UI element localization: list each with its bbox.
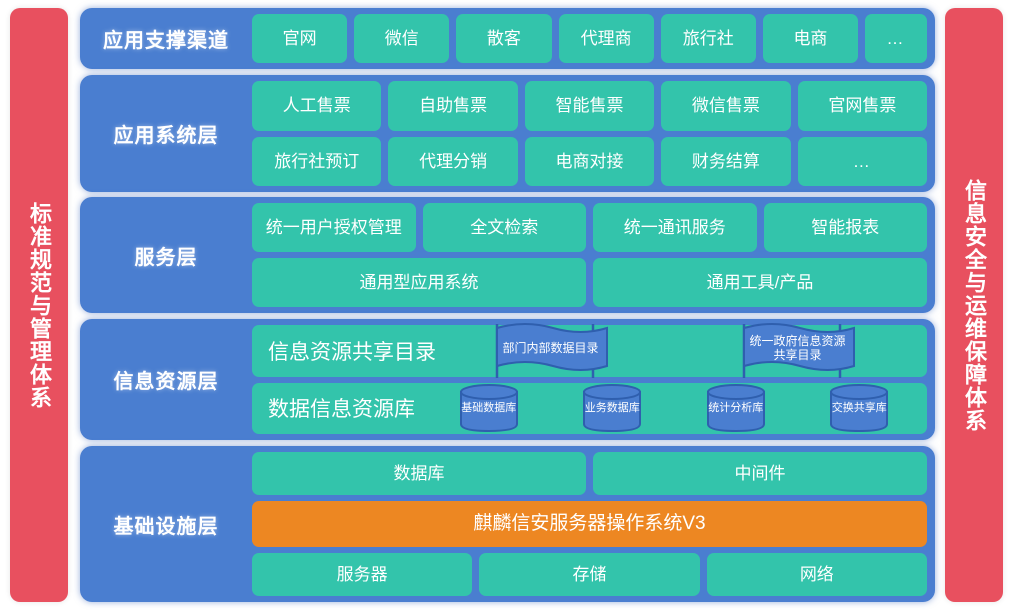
chip-row: 数据库 中间件: [252, 452, 927, 495]
flag-shape-internal-catalog[interactable]: 部门内部数据目录: [487, 328, 615, 374]
resource-band-catalog-title: 信息资源共享目录: [252, 336, 436, 366]
chip-item[interactable]: 中间件: [593, 452, 927, 495]
chip-item[interactable]: 电商: [763, 14, 858, 63]
layer-infrastructure: 基础设施层 数据库 中间件 麒麟信安服务器操作系统V3 服务器 存储 网络: [80, 446, 935, 602]
chip-item[interactable]: 官网售票: [798, 81, 927, 131]
side-bar-security-operations: 信息安全与运维保障体系: [945, 8, 1003, 602]
database-shape-business[interactable]: 业务数据库: [581, 383, 643, 433]
database-label: 交换共享库: [828, 402, 890, 415]
layer-label-application-support-channel: 应用支撑渠道: [80, 8, 252, 69]
layer-label-application-system: 应用系统层: [80, 75, 252, 192]
chip-item[interactable]: 旅行社预订: [252, 137, 381, 187]
layer-application-system: 应用系统层 人工售票 自助售票 智能售票 微信售票 官网售票 旅行社预订 代理分…: [80, 75, 935, 192]
side-bar-right-label: 信息安全与运维保障体系: [961, 179, 987, 432]
resource-band-catalog[interactable]: 信息资源共享目录 部门内部数据目录: [252, 325, 927, 377]
chip-item-os[interactable]: 麒麟信安服务器操作系统V3: [252, 501, 927, 546]
database-label: 统计分析库: [705, 402, 767, 415]
flag-slot: 统一政府信息资源共享目录: [674, 325, 921, 377]
resource-band-repository[interactable]: 数据信息资源库 基础数据库: [252, 383, 927, 435]
chip-item[interactable]: 通用型应用系统: [252, 258, 586, 307]
layer-application-support-channel: 应用支撑渠道 官网 微信 散客 代理商 旅行社 电商 …: [80, 8, 935, 69]
architecture-diagram: 标准规范与管理体系 信息安全与运维保障体系 应用支撑渠道 官网 微信 散客 代理…: [0, 0, 1012, 610]
chip-item[interactable]: 智能报表: [764, 203, 928, 252]
chip-row: 服务器 存储 网络: [252, 553, 927, 596]
chip-item[interactable]: 微信售票: [661, 81, 790, 131]
chip-item[interactable]: 财务结算: [661, 137, 790, 187]
cylinder-slot: 统计分析库: [674, 383, 798, 435]
layer-label-information-resource: 信息资源层: [80, 319, 252, 440]
chip-row: 人工售票 自助售票 智能售票 微信售票 官网售票: [252, 81, 927, 131]
flag-slot: 部门内部数据目录: [427, 325, 674, 377]
chip-item[interactable]: 统一通讯服务: [593, 203, 757, 252]
chip-item[interactable]: 自助售票: [388, 81, 517, 131]
chip-item[interactable]: 存储: [479, 553, 699, 596]
chip-item[interactable]: 散客: [456, 14, 551, 63]
resource-band-row: 数据信息资源库 基础数据库: [252, 383, 927, 435]
layer-label-service: 服务层: [80, 197, 252, 313]
chip-item[interactable]: 统一用户授权管理: [252, 203, 416, 252]
layer-body-information-resource: 信息资源共享目录 部门内部数据目录: [252, 319, 935, 440]
layer-body-application-system: 人工售票 自助售票 智能售票 微信售票 官网售票 旅行社预订 代理分销 电商对接…: [252, 75, 935, 192]
chip-item[interactable]: 微信: [354, 14, 449, 63]
resource-band-row: 信息资源共享目录 部门内部数据目录: [252, 325, 927, 377]
chip-item[interactable]: 网络: [707, 553, 927, 596]
database-label: 业务数据库: [581, 402, 643, 415]
flag-shape-gov-shared-catalog[interactable]: 统一政府信息资源共享目录: [734, 328, 862, 374]
side-bar-left-label: 标准规范与管理体系: [26, 202, 52, 409]
chip-item[interactable]: 代理商: [559, 14, 654, 63]
layer-label-infrastructure: 基础设施层: [80, 446, 252, 602]
database-label: 基础数据库: [458, 402, 520, 415]
chip-item[interactable]: 人工售票: [252, 81, 381, 131]
database-shape-statistics[interactable]: 统计分析库: [705, 383, 767, 433]
layer-body-infrastructure: 数据库 中间件 麒麟信安服务器操作系统V3 服务器 存储 网络: [252, 446, 935, 602]
chip-item[interactable]: 智能售票: [525, 81, 654, 131]
chip-item[interactable]: 全文检索: [423, 203, 587, 252]
database-shape-basic[interactable]: 基础数据库: [458, 383, 520, 433]
chip-item[interactable]: 旅行社: [661, 14, 756, 63]
chip-row: 通用型应用系统 通用工具/产品: [252, 258, 927, 307]
database-group: 基础数据库 业务数据库: [427, 383, 921, 435]
chip-row: 旅行社预订 代理分销 电商对接 财务结算 …: [252, 137, 927, 187]
chip-item[interactable]: 电商对接: [525, 137, 654, 187]
cylinder-slot: 交换共享库: [798, 383, 922, 435]
flag-label: 部门内部数据目录: [487, 342, 615, 360]
chip-item-more[interactable]: …: [865, 14, 927, 63]
side-bar-standards-management: 标准规范与管理体系: [10, 8, 68, 602]
chip-row: 官网 微信 散客 代理商 旅行社 电商 …: [252, 14, 927, 63]
layer-body-application-support-channel: 官网 微信 散客 代理商 旅行社 电商 …: [252, 8, 935, 69]
chip-row: 麒麟信安服务器操作系统V3: [252, 501, 927, 546]
flag-group: 部门内部数据目录 统一政府信息资源共享目录: [427, 325, 921, 377]
layer-service: 服务层 统一用户授权管理 全文检索 统一通讯服务 智能报表 通用型应用系统 通用…: [80, 197, 935, 313]
database-shape-exchange[interactable]: 交换共享库: [828, 383, 890, 433]
chip-row: 统一用户授权管理 全文检索 统一通讯服务 智能报表: [252, 203, 927, 252]
chip-item[interactable]: 官网: [252, 14, 347, 63]
flag-label: 统一政府信息资源共享目录: [734, 335, 862, 367]
chip-item[interactable]: 服务器: [252, 553, 472, 596]
layer-body-service: 统一用户授权管理 全文检索 统一通讯服务 智能报表 通用型应用系统 通用工具/产…: [252, 197, 935, 313]
cylinder-slot: 业务数据库: [551, 383, 675, 435]
cylinder-slot: 基础数据库: [427, 383, 551, 435]
chip-item[interactable]: 数据库: [252, 452, 586, 495]
resource-band-repository-title: 数据信息资源库: [252, 393, 415, 423]
chip-item[interactable]: 代理分销: [388, 137, 517, 187]
chip-item-more[interactable]: …: [798, 137, 927, 187]
layer-information-resource: 信息资源层 信息资源共享目录: [80, 319, 935, 440]
chip-item[interactable]: 通用工具/产品: [593, 258, 927, 307]
